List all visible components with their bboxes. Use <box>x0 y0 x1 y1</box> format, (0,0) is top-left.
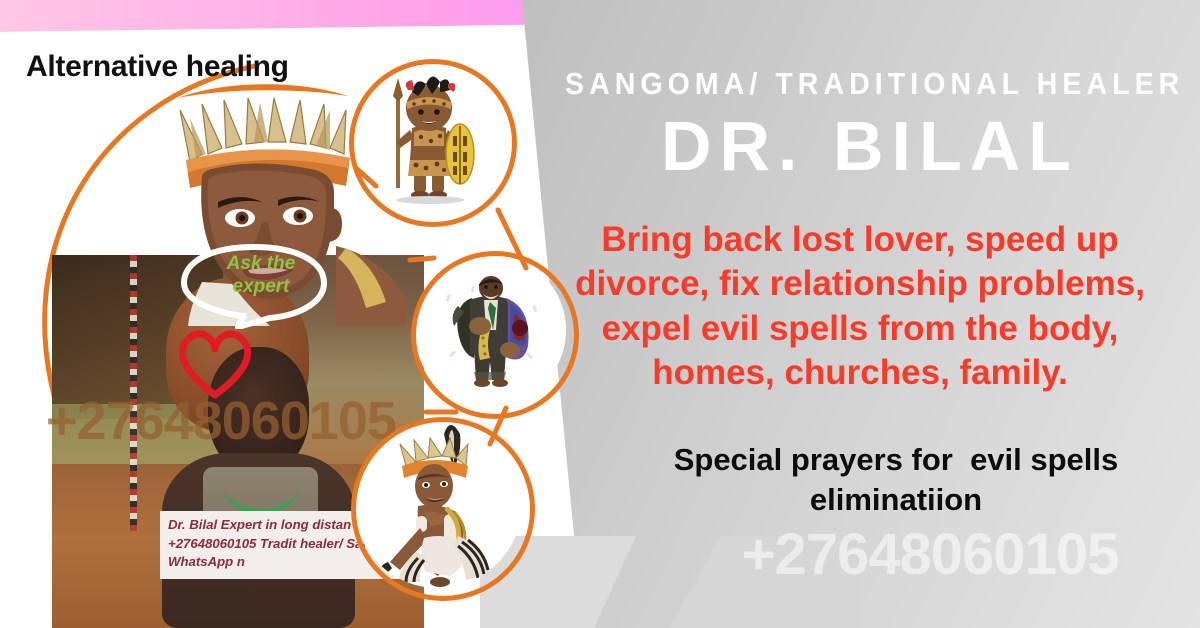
phone-watermark: +27648060105 <box>660 521 1200 588</box>
photo-subject-necklace <box>222 453 300 514</box>
page-title: Alternative healing <box>26 50 289 84</box>
healer-name-title: DR. BILAL <box>560 106 1180 186</box>
special-offer-text: Special prayers for evil spells eliminat… <box>600 440 1192 521</box>
services-text: Bring back lost lover, speed up divorce,… <box>540 218 1180 396</box>
speech-bubble-text: Ask the expert <box>206 252 316 298</box>
poster-canvas: Alternative healing <box>0 0 1200 628</box>
top-pink-bar <box>0 0 604 32</box>
kicker-heading: SANGOMA/ TRADITIONAL HEALER <box>565 66 1131 102</box>
